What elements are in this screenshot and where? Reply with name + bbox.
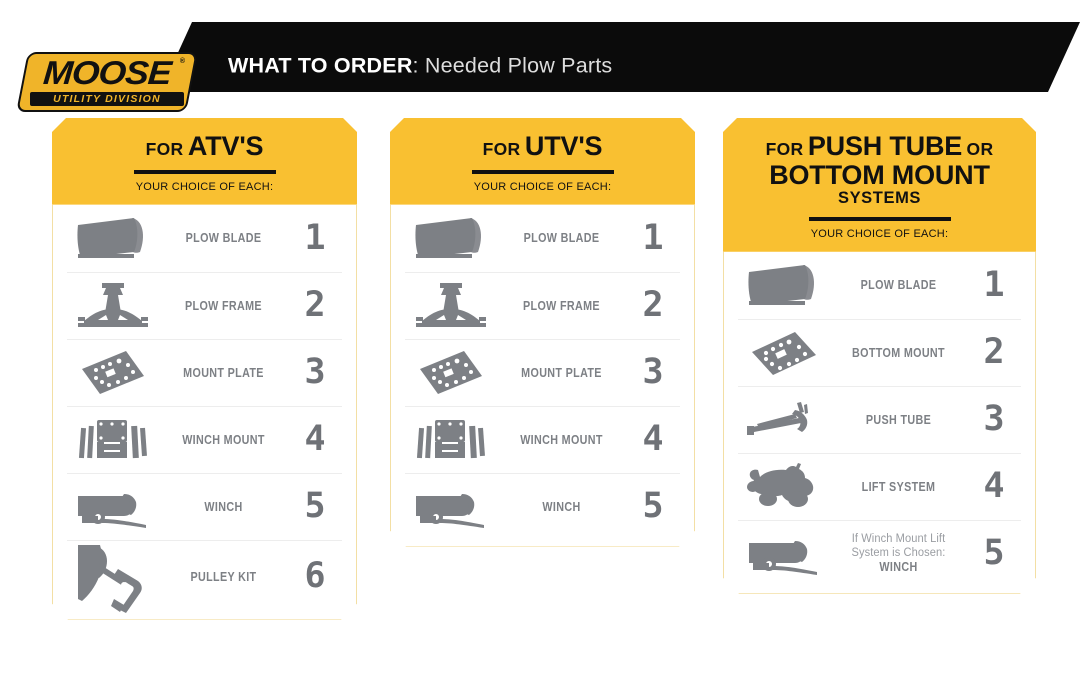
infographic-page: WHAT TO ORDER: Needed Plow Parts MOOSE U… (0, 0, 1080, 691)
card-push: FOR PUSH TUBE ORBOTTOM MOUNTSYSTEMSYOUR … (723, 118, 1036, 594)
bottom-mount-icon (738, 328, 830, 378)
part-number: 1 (288, 221, 342, 256)
part-number: 3 (967, 402, 1021, 437)
part-label: LIFT SYSTEM (840, 480, 958, 494)
page-title: WHAT TO ORDER: Needed Plow Parts (228, 54, 612, 79)
part-row: If Winch Mount Lift System is Chosen:WIN… (738, 520, 1021, 587)
part-row: PLOW BLADE1 (405, 205, 680, 272)
title-underline (809, 217, 951, 221)
choice-label: YOUR CHOICE OF EACH: (400, 181, 685, 193)
part-number: 4 (288, 422, 342, 457)
part-row: BOTTOM MOUNT2 (738, 319, 1021, 386)
moose-logo: MOOSE UTILITY DIVISION ® (16, 52, 198, 112)
plow-blade-icon (738, 263, 830, 307)
part-label: WINCH (168, 500, 279, 514)
pulley-kit-icon (67, 541, 159, 613)
winch-icon (738, 533, 830, 575)
card-title-main: UTV'S (525, 131, 602, 161)
card-title-prefix: FOR (483, 139, 521, 159)
card-header-push: FOR PUSH TUBE ORBOTTOM MOUNTSYSTEMSYOUR … (723, 118, 1036, 252)
part-number: 6 (288, 559, 342, 594)
part-number: 5 (967, 536, 1021, 571)
page-title-light: : Needed Plow Parts (413, 54, 613, 78)
part-label-text: WINCH (840, 560, 958, 574)
plow-blade-icon (405, 216, 497, 260)
card-body-push: PLOW BLADE1 BOTTOM MOUNT2 PUSH TUBE3 LIF… (723, 252, 1036, 594)
part-row: WINCH5 (67, 473, 342, 540)
atv-icon (738, 463, 830, 511)
part-label: PULLEY KIT (168, 570, 279, 584)
part-row: WINCH MOUNT4 (67, 406, 342, 473)
card-body-atv: PLOW BLADE1 PLOW FRAME2 MOUNT PLATE3 (52, 205, 357, 620)
registered-mark-icon: ® (180, 58, 185, 65)
part-label: PLOW BLADE (168, 231, 279, 245)
part-number: 3 (288, 355, 342, 390)
part-label: PLOW FRAME (168, 299, 279, 313)
part-label: WINCH (506, 500, 617, 514)
part-label: PLOW BLADE (840, 278, 958, 292)
part-number: 2 (626, 288, 680, 323)
part-number: 1 (967, 268, 1021, 303)
card-header-atv: FOR ATV'SYOUR CHOICE OF EACH: (52, 118, 357, 205)
card-title-main: PUSH TUBE (808, 131, 962, 161)
page-title-strong: WHAT TO ORDER (228, 54, 413, 78)
card-title-line3: SYSTEMS (733, 190, 1026, 207)
part-row: WINCH MOUNT4 (405, 406, 680, 473)
part-number: 2 (967, 335, 1021, 370)
part-number: 5 (626, 489, 680, 524)
card-title-prefix: FOR (146, 139, 184, 159)
card-title-atv: FOR ATV'S (62, 132, 347, 161)
part-label: PUSH TUBE (840, 413, 958, 427)
title-underline (472, 170, 614, 174)
part-row: WINCH5 (405, 473, 680, 540)
part-label: MOUNT PLATE (168, 366, 279, 380)
part-number: 3 (626, 355, 680, 390)
part-label: PLOW FRAME (506, 299, 617, 313)
plow-blade-icon (67, 216, 159, 260)
mount-plate-icon (67, 348, 159, 398)
part-label: MOUNT PLATE (506, 366, 617, 380)
mount-plate-icon (405, 348, 497, 398)
card-title-main: ATV'S (188, 131, 263, 161)
part-row: PLOW BLADE1 (738, 252, 1021, 319)
part-row: PULLEY KIT6 (67, 540, 342, 613)
part-label: WINCH MOUNT (168, 433, 279, 447)
winch-icon (67, 486, 159, 528)
card-atv: FOR ATV'SYOUR CHOICE OF EACH: PLOW BLADE… (52, 118, 357, 620)
card-title-utv: FOR UTV'S (400, 132, 685, 161)
part-row: PLOW FRAME2 (405, 272, 680, 339)
part-number: 4 (626, 422, 680, 457)
part-number: 4 (967, 469, 1021, 504)
part-note: If Winch Mount Lift System is Chosen: (833, 533, 965, 559)
card-title-suffix: OR (967, 139, 994, 159)
card-title-push: FOR PUSH TUBE ORBOTTOM MOUNTSYSTEMS (733, 132, 1026, 208)
choice-label: YOUR CHOICE OF EACH: (62, 181, 347, 193)
part-number: 2 (288, 288, 342, 323)
part-row: PUSH TUBE3 (738, 386, 1021, 453)
part-label: BOTTOM MOUNT (840, 346, 958, 360)
card-title-line2: BOTTOM MOUNT (733, 161, 1026, 190)
winch-mount-icon (405, 416, 497, 464)
page-header: WHAT TO ORDER: Needed Plow Parts MOOSE U… (0, 22, 1080, 92)
part-label: PLOW BLADE (506, 231, 617, 245)
part-number: 1 (626, 221, 680, 256)
plow-frame-icon (405, 281, 497, 331)
part-row: MOUNT PLATE3 (405, 339, 680, 406)
winch-mount-icon (67, 416, 159, 464)
push-tube-icon (738, 400, 830, 440)
part-row: LIFT SYSTEM4 (738, 453, 1021, 520)
part-row: PLOW FRAME2 (67, 272, 342, 339)
part-label: WINCH MOUNT (506, 433, 617, 447)
card-utv: FOR UTV'SYOUR CHOICE OF EACH: PLOW BLADE… (390, 118, 695, 547)
title-underline (134, 170, 276, 174)
card-body-utv: PLOW BLADE1 PLOW FRAME2 MOUNT PLATE3 (390, 205, 695, 547)
part-label: If Winch Mount Lift System is Chosen:WIN… (840, 533, 958, 573)
plow-frame-icon (67, 281, 159, 331)
logo-wordmark: MOOSE (16, 56, 198, 90)
card-title-prefix: FOR (766, 139, 804, 159)
choice-label: YOUR CHOICE OF EACH: (733, 228, 1026, 240)
part-row: MOUNT PLATE3 (67, 339, 342, 406)
card-header-utv: FOR UTV'SYOUR CHOICE OF EACH: (390, 118, 695, 205)
part-number: 5 (288, 489, 342, 524)
logo-subtitle: UTILITY DIVISION (30, 92, 184, 106)
part-row: PLOW BLADE1 (67, 205, 342, 272)
winch-icon (405, 486, 497, 528)
